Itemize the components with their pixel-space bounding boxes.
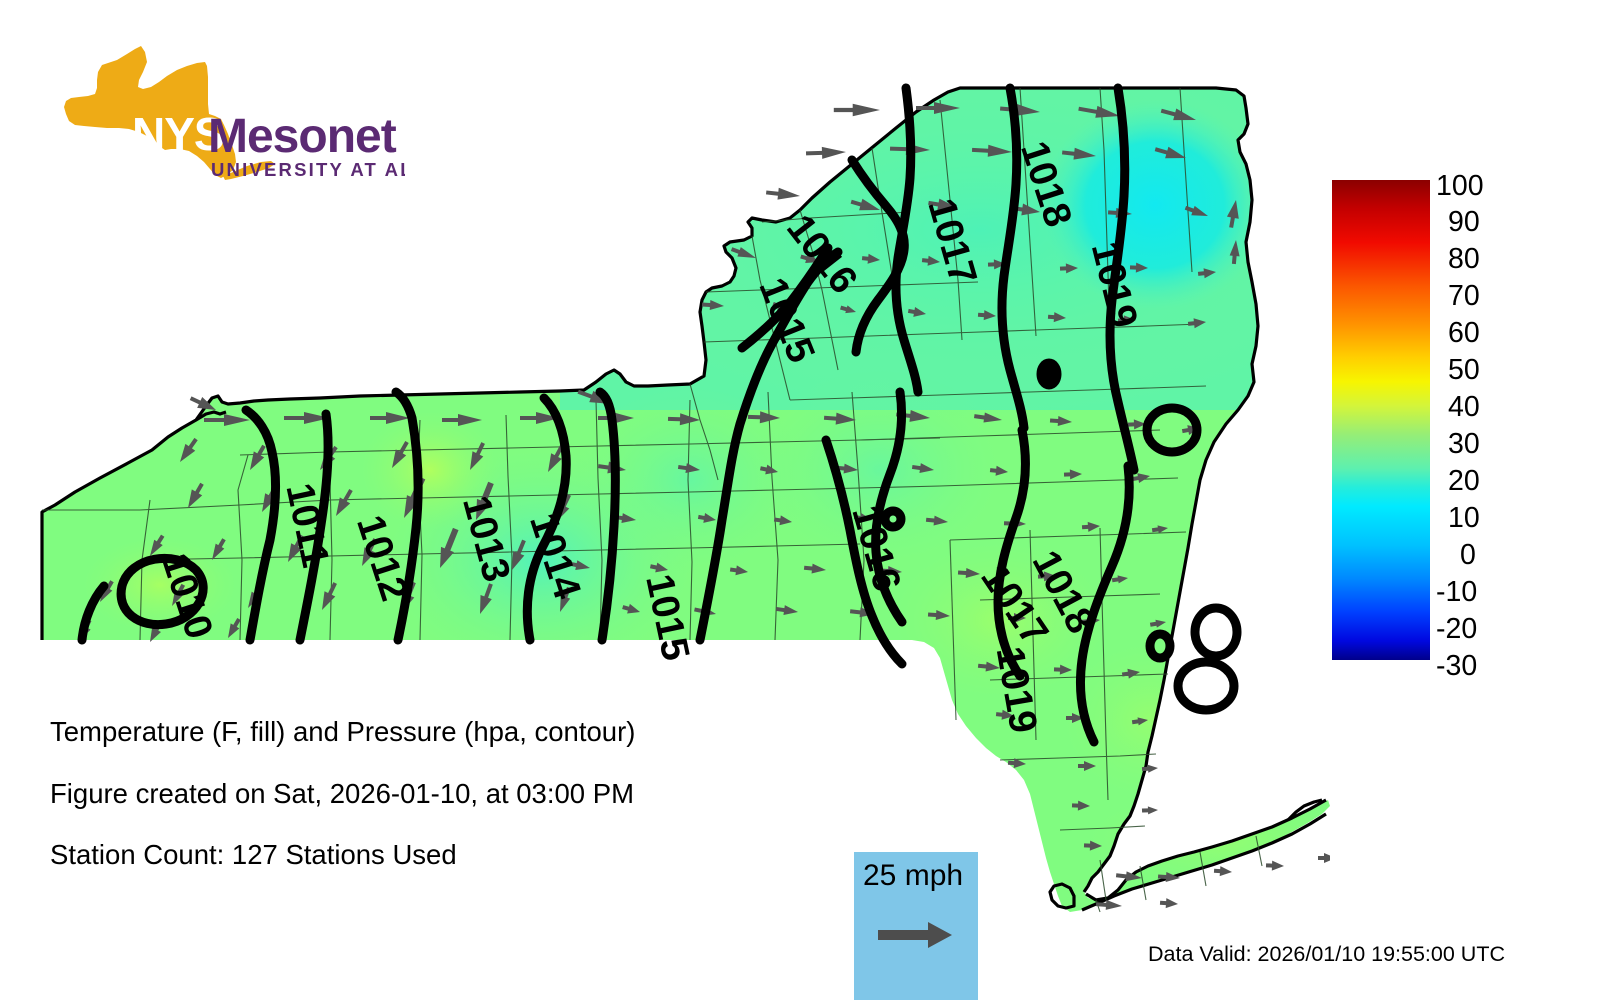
temperature-colorbar [1332,180,1430,660]
wind-legend-label: 25 mph [863,861,963,891]
colorbar-tick: 0 [1460,541,1476,570]
colorbar-tick: 100 [1436,172,1484,201]
colorbar-tick: -10 [1436,578,1477,607]
map-title: Temperature (F, fill) and Pressure (hpa,… [50,718,810,746]
figure-created-text: Figure created on Sat, 2026-01-10, at 03… [50,780,810,808]
colorbar-tick: -20 [1436,615,1477,644]
colorbar-tick: -30 [1436,652,1477,681]
colorbar-gradient [1332,180,1430,660]
colorbar-tick: 90 [1448,208,1480,237]
station-count-text: Station Count: 127 Stations Used [50,841,810,869]
colorbar-tick: 60 [1448,319,1480,348]
colorbar-tick: 80 [1448,245,1480,274]
colorbar-tick: 30 [1448,430,1480,459]
colorbar-tick-labels: 100 90 80 70 60 50 40 30 20 10 0 -10 -20… [1436,172,1556,672]
data-valid-text: Data Valid: 2026/01/10 19:55:00 UTC [1148,942,1505,967]
wind-scale-legend: 25 mph [854,852,978,1000]
colorbar-tick: 20 [1448,467,1480,496]
colorbar-tick: 70 [1448,282,1480,311]
colorbar-tick: 10 [1448,504,1480,533]
caption-block: Temperature (F, fill) and Pressure (hpa,… [50,718,810,903]
colorbar-tick: 40 [1448,393,1480,422]
right-arrow-icon [878,920,956,955]
colorbar-tick: 50 [1448,356,1480,385]
